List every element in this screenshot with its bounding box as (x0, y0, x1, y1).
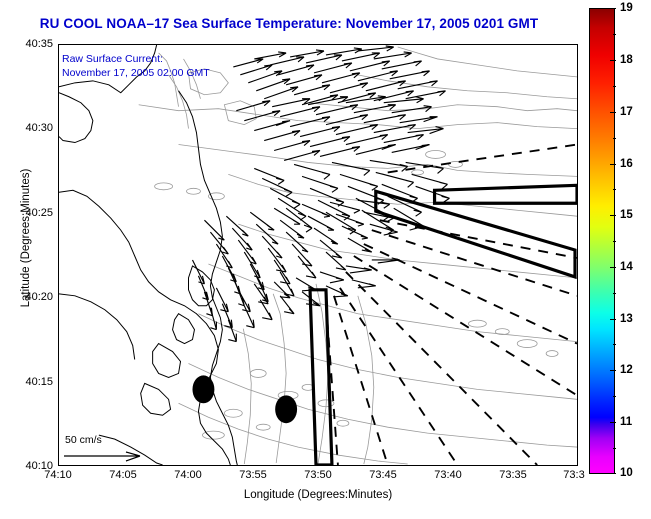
x-tick: 74:00 (174, 469, 202, 481)
x-tick: 73:40 (434, 469, 462, 481)
colorbar-tick (610, 422, 616, 423)
colorbar-tick (610, 370, 616, 371)
colorbar-gradient (589, 8, 615, 474)
coastline (59, 45, 237, 465)
colorbar-minor-tick (613, 189, 617, 190)
sst-figure: RU COOL NOAA–17 Sea Surface Temperature:… (0, 0, 651, 519)
surface-current-annotation: Raw Surface Current: November 17, 2005 0… (62, 52, 210, 80)
x-tick: 73:45 (369, 469, 397, 481)
colorbar-tick (610, 112, 616, 113)
colorbar-minor-tick (613, 396, 617, 397)
colorbar-minor-tick (613, 293, 617, 294)
colorbar-minor-tick (613, 138, 617, 139)
vector-scale-label: 50 cm/s (62, 434, 154, 446)
vector-scale-legend: 50 cm/s (62, 434, 154, 464)
colorbar-minor-tick (613, 448, 617, 449)
station-marker (192, 375, 214, 403)
map-graphics (59, 45, 577, 465)
colorbar-tick-label: 12 (620, 364, 633, 376)
colorbar-minor-tick (613, 34, 617, 35)
colorbar-tick (610, 215, 616, 216)
y-axis-label: Latitude (Degrees:Minutes) (20, 118, 32, 358)
y-tick: 40:15 (25, 376, 53, 388)
x-axis-label: Longitude (Degrees:Minutes) (58, 489, 578, 501)
colorbar-tick (610, 60, 616, 61)
map-plot-area[interactable] (58, 44, 578, 466)
colorbar-tick-label: 18 (620, 54, 633, 66)
colorbar-tick-label: 11 (620, 416, 632, 428)
colorbar-minor-tick (613, 344, 617, 345)
x-tick: 73:35 (499, 469, 527, 481)
y-tick: 40:10 (25, 460, 53, 472)
annotation-line-2: November 17, 2005 02:00 GMT (62, 66, 210, 80)
figure-title: RU COOL NOAA–17 Sea Surface Temperature:… (0, 16, 578, 31)
colorbar-tick (610, 267, 616, 268)
colorbar-minor-tick (613, 241, 617, 242)
colorbar-tick-label: 10 (620, 467, 633, 479)
colorbar-tick (610, 8, 616, 9)
annotation-line-1: Raw Surface Current: (62, 52, 210, 66)
colorbar-tick (610, 319, 616, 320)
colorbar-tick-label: 13 (620, 313, 633, 325)
colorbar-tick-label: 14 (620, 261, 633, 273)
station-marker (275, 395, 297, 423)
x-tick: 73:55 (239, 469, 267, 481)
colorbar-tick (610, 164, 616, 165)
colorbar-tick-label: 15 (620, 209, 633, 221)
colorbar-tick-label: 17 (620, 106, 633, 118)
right-arrow-icon (62, 448, 152, 464)
y-tick: 40:35 (25, 38, 53, 50)
colorbar-tick-label: 19 (620, 2, 633, 14)
colorbar-tick (610, 473, 616, 474)
x-tick: 74:05 (109, 469, 137, 481)
surface-current-vectors (192, 46, 449, 342)
x-tick: 73:50 (304, 469, 332, 481)
x-tick: 73:3 (563, 469, 584, 481)
colorbar-tick-label: 16 (620, 158, 633, 170)
station-markers (192, 375, 297, 423)
colorbar[interactable] (589, 8, 615, 474)
colorbar-minor-tick (613, 86, 617, 87)
